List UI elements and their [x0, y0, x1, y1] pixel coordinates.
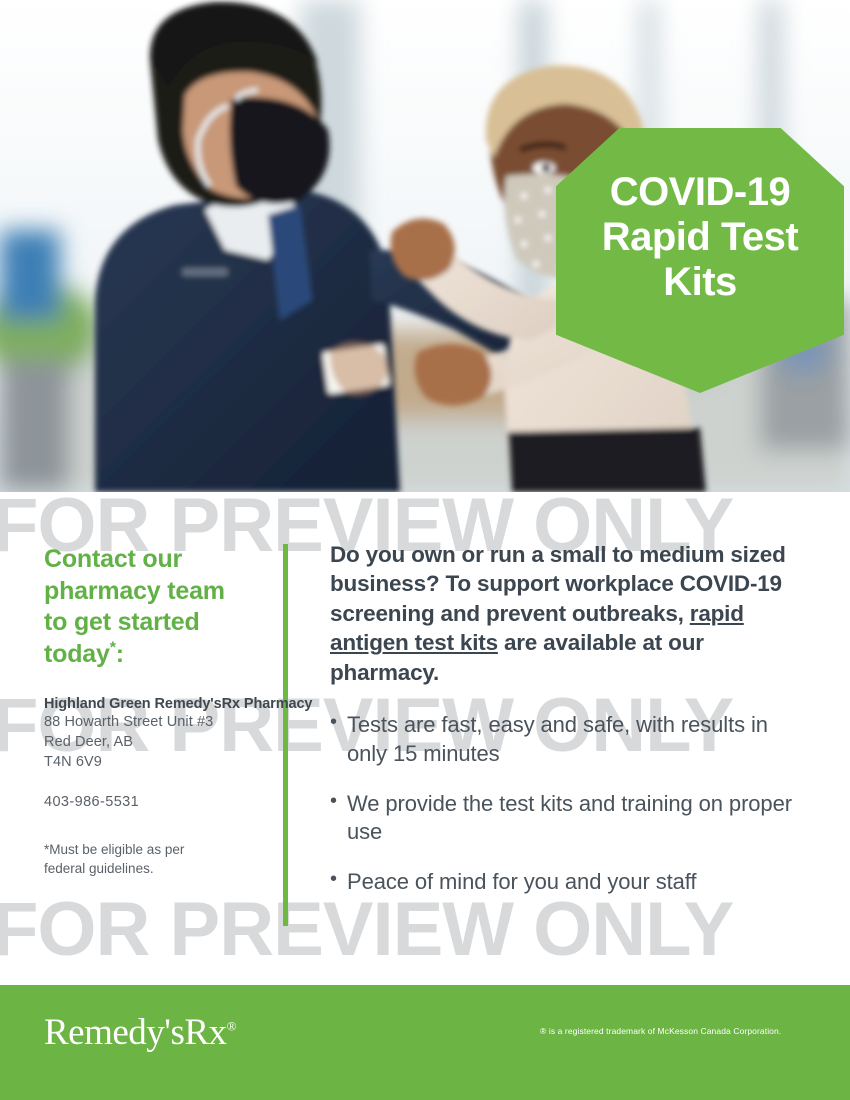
footnote-line-1: *Must be eligible as per: [44, 842, 184, 857]
address-line-2: Red Deer, AB: [44, 732, 274, 752]
phone-number[interactable]: 403-986-5531: [44, 794, 274, 810]
benefits-list: Tests are fast, easy and safe, with resu…: [330, 711, 805, 896]
badge-line-2: Rapid Test: [556, 215, 844, 260]
content-area: Contact our pharmacy team to get started…: [0, 492, 850, 985]
eligibility-footnote: *Must be eligible as per federal guideli…: [44, 840, 249, 878]
address-line-1: 88 Howarth Street Unit #3: [44, 712, 274, 732]
lead-paragraph: Do you own or run a small to medium size…: [330, 540, 805, 687]
logo-wordmark: Remedy'sRx: [44, 1012, 227, 1053]
heading-colon: :: [116, 640, 124, 668]
list-item: We provide the test kits and training on…: [330, 790, 805, 846]
address-line-3: T4N 6V9: [44, 752, 274, 772]
registered-trademark-icon: ®: [227, 1019, 236, 1034]
footer-bar: Remedy'sRx® ® is a registered trademark …: [0, 985, 850, 1100]
footnote-line-2: federal guidelines.: [44, 861, 154, 876]
column-divider: [283, 544, 288, 926]
contact-heading-line-2: pharmacy team: [44, 577, 225, 605]
badge-text: COVID-19 Rapid Test Kits: [556, 170, 844, 304]
description-column: Do you own or run a small to medium size…: [330, 540, 805, 918]
badge-line-1: COVID-19: [556, 170, 844, 215]
hero-photo: COVID-19 Rapid Test Kits: [0, 0, 850, 492]
pharmacy-name: Highland Green Remedy'sRx Pharmacy: [44, 696, 274, 712]
contact-column: Contact our pharmacy team to get started…: [44, 544, 274, 810]
badge-line-3: Kits: [556, 260, 844, 305]
contact-heading-line-4: today: [44, 640, 110, 668]
flyer-page: COVID-19 Rapid Test Kits FOR PREVIEW ONL…: [0, 0, 850, 1100]
list-item: Tests are fast, easy and safe, with resu…: [330, 711, 805, 767]
contact-heading-line-3: to get started: [44, 608, 200, 636]
trademark-notice: ® is a registered trademark of McKesson …: [540, 1026, 820, 1036]
contact-heading-line-1: Contact our: [44, 545, 182, 573]
remedysrx-logo: Remedy'sRx®: [44, 1011, 236, 1054]
list-item: Peace of mind for you and your staff: [330, 868, 805, 896]
contact-heading: Contact our pharmacy team to get started…: [44, 544, 274, 670]
